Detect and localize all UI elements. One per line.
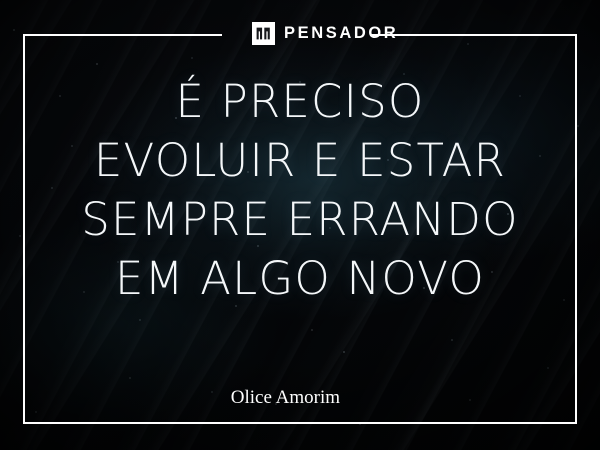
frame-border-bottom bbox=[23, 422, 577, 424]
quote-text: É PRECISO EVOLUIR E ESTAR SEMPRE ERRANDO… bbox=[30, 72, 570, 308]
frame-border-top-right bbox=[370, 34, 577, 36]
frame-border-left bbox=[23, 34, 25, 424]
frame-border-top-left bbox=[23, 34, 222, 36]
quote-mark-icon bbox=[252, 22, 275, 45]
quote-line-3: SEMPRE ERRANDO bbox=[30, 190, 570, 249]
quote-card: PENSADOR É PRECISO EVOLUIR E ESTAR SEMPR… bbox=[0, 0, 600, 450]
quote-line-4: EM ALGO NOVO bbox=[30, 249, 570, 308]
brand-logo: PENSADOR bbox=[252, 22, 398, 45]
brand-name: PENSADOR bbox=[284, 25, 398, 42]
frame-border-right bbox=[575, 34, 577, 424]
author-name: Olice Amorim bbox=[40, 386, 340, 410]
quote-line-1: É PRECISO bbox=[30, 72, 570, 131]
quote-line-2: EVOLUIR E ESTAR bbox=[30, 131, 570, 190]
